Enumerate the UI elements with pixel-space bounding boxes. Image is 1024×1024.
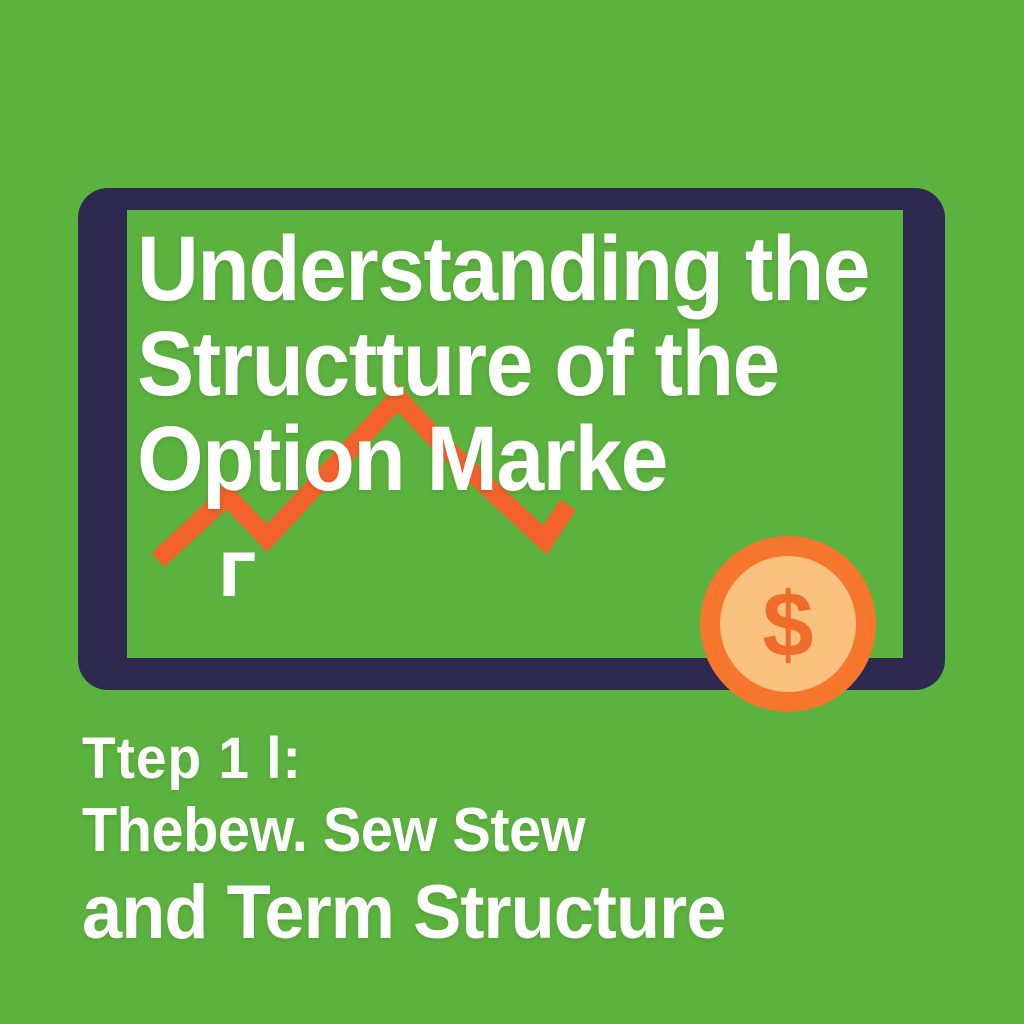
caption-line-1: Ttep 1 l: — [82, 726, 937, 792]
caption-block: Ttep 1 l: Thebew. Sew Stew and Term Stru… — [82, 726, 982, 956]
coin-dollar-symbol: $ — [762, 574, 813, 676]
caption-line-2: Thebew. Sew Stew — [82, 792, 919, 870]
caption-line-3: and Term Structure — [82, 870, 937, 956]
poster-canvas: Understanding the Structture of the Opti… — [0, 0, 1024, 1024]
dollar-coin-icon: $ — [698, 534, 878, 714]
